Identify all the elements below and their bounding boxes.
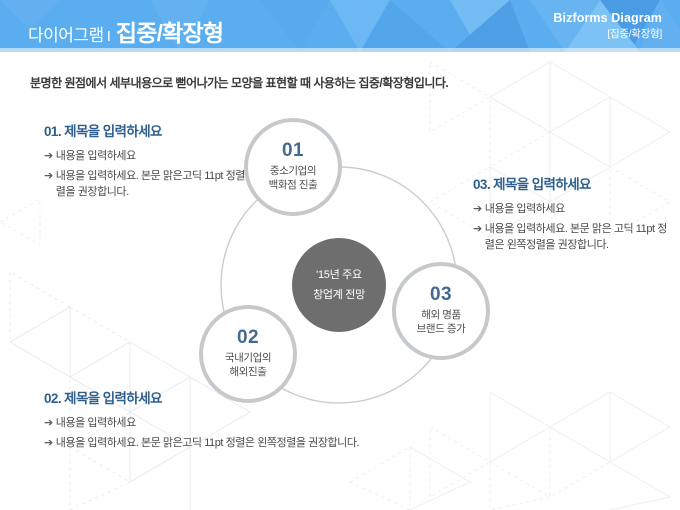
page-title-prefix: 다이어그램	[28, 21, 104, 46]
slide-header: 다이어그램 I 집중/확장형 Bizforms Diagram [집중/확장형]	[0, 0, 680, 52]
node-02-line2: 해외진출	[229, 365, 266, 379]
diagram-node-02[interactable]: 02 국내기업의 해외진출	[199, 305, 297, 403]
node-01-line1: 중소기업의	[270, 164, 316, 178]
node-01-number: 01	[282, 141, 304, 161]
arrow-icon: ➔	[44, 149, 53, 165]
slide-canvas: 다이어그램 I 집중/확장형 Bizforms Diagram [집중/확장형]…	[0, 0, 680, 510]
center-node-line1: '15년 주요	[316, 265, 362, 285]
block-02-bullet-2-text: 내용을 입력하세요. 본문 맑은고딕 11pt 정렬은 왼쪽정렬을 권장합니다.	[56, 436, 444, 452]
brand-name: Bizforms Diagram	[553, 10, 662, 27]
brand-subtitle: [집중/확장형]	[553, 27, 662, 41]
diagram-center-node[interactable]: '15년 주요 창업계 전망	[292, 238, 386, 332]
page-title-main: 집중/확장형	[116, 14, 223, 48]
center-node-line2: 창업계 전망	[313, 285, 365, 305]
diagram-node-01[interactable]: 01 중소기업의 백화점 진출	[244, 118, 342, 216]
node-02-number: 02	[237, 328, 259, 348]
page-title-separator: I	[107, 28, 111, 45]
node-03-line2: 브랜드 증가	[417, 322, 466, 336]
page-title: 다이어그램 I 집중/확장형	[28, 14, 223, 48]
node-03-line1: 해외 명품	[421, 308, 461, 322]
diagram-node-03[interactable]: 03 해외 명품 브랜드 증가	[392, 262, 490, 360]
lead-description: 분명한 원점에서 세부내용으로 뻗어나가는 모양을 표현할 때 사용하는 집중/…	[30, 74, 448, 91]
concentric-expansion-diagram: 01 중소기업의 백화점 진출 02 국내기업의 해외진출 03 해외 명품 브…	[170, 110, 550, 430]
node-01-line2: 백화점 진출	[269, 178, 318, 192]
brand-block: Bizforms Diagram [집중/확장형]	[553, 10, 662, 41]
block-02-bullet-2: ➔ 내용을 입력하세요. 본문 맑은고딕 11pt 정렬은 왼쪽정렬을 권장합니…	[44, 436, 444, 452]
arrow-icon: ➔	[44, 169, 53, 185]
arrow-icon: ➔	[44, 436, 53, 452]
node-02-line1: 국내기업의	[225, 351, 271, 365]
node-03-number: 03	[430, 285, 452, 305]
arrow-icon: ➔	[44, 416, 53, 432]
